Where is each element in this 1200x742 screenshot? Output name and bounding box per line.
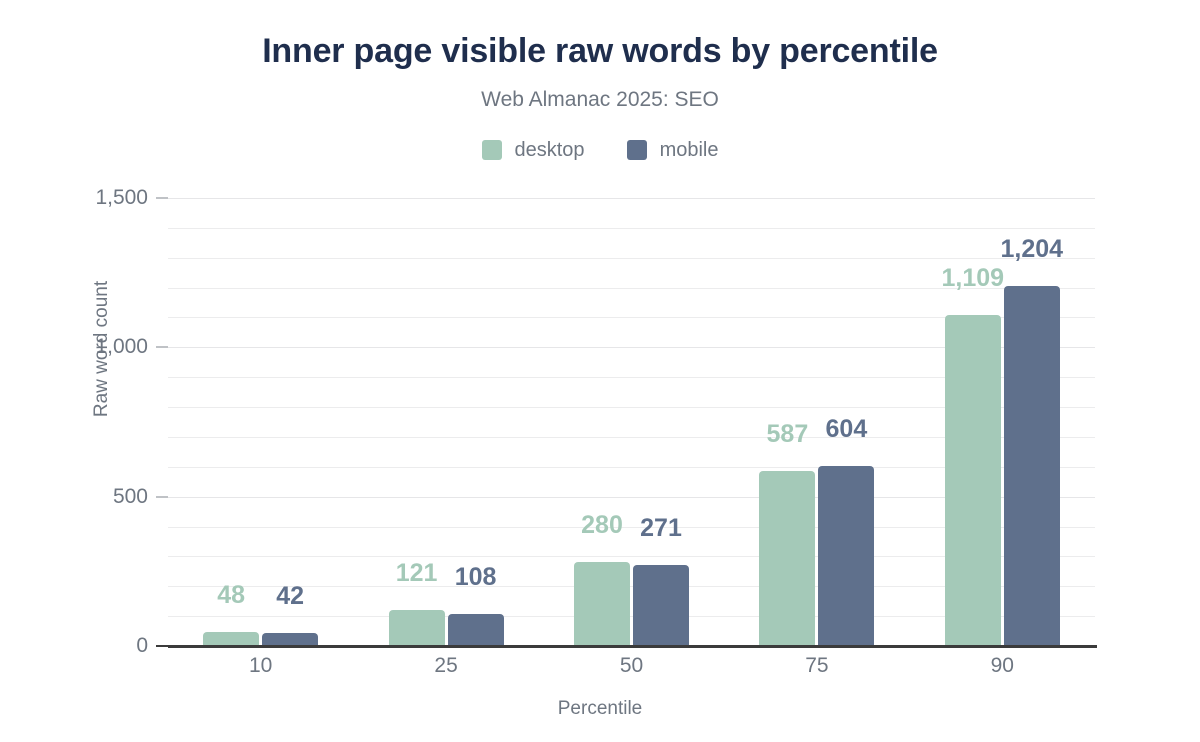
x-axis-line bbox=[168, 645, 1097, 648]
y-tick-mark bbox=[156, 346, 168, 348]
x-axis-title: Percentile bbox=[0, 698, 1200, 720]
y-tick-label: 0 bbox=[8, 634, 148, 658]
value-label-mobile-25: 108 bbox=[455, 565, 497, 590]
value-label-desktop-50: 280 bbox=[581, 513, 623, 538]
y-tick-mark bbox=[156, 645, 168, 647]
value-label-mobile-90: 1,204 bbox=[1001, 237, 1064, 262]
x-tick-label: 90 bbox=[922, 654, 1082, 678]
bar-mobile-50[interactable] bbox=[633, 565, 689, 646]
value-label-mobile-10: 42 bbox=[276, 584, 304, 609]
legend-label-mobile: mobile bbox=[660, 140, 719, 160]
y-tick-mark bbox=[156, 496, 168, 498]
value-label-desktop-90: 1,109 bbox=[942, 266, 1005, 291]
bar-desktop-90[interactable] bbox=[945, 315, 1001, 646]
legend-swatch-desktop-icon bbox=[482, 140, 502, 160]
value-label-desktop-10: 48 bbox=[217, 583, 245, 608]
bar-desktop-25[interactable] bbox=[389, 610, 445, 646]
bar-desktop-50[interactable] bbox=[574, 562, 630, 646]
x-tick-label: 25 bbox=[366, 654, 526, 678]
x-tick-label: 50 bbox=[552, 654, 712, 678]
value-label-desktop-25: 121 bbox=[396, 561, 438, 586]
legend-swatch-mobile-icon bbox=[627, 140, 647, 160]
bar-mobile-90[interactable] bbox=[1004, 286, 1060, 646]
bar-mobile-75[interactable] bbox=[818, 466, 874, 646]
value-label-mobile-50: 271 bbox=[640, 516, 682, 541]
legend-label-desktop: desktop bbox=[515, 140, 585, 160]
x-tick-label: 10 bbox=[181, 654, 341, 678]
legend-item-mobile[interactable]: mobile bbox=[627, 140, 719, 160]
y-tick-label: 1,500 bbox=[8, 186, 148, 210]
bar-desktop-75[interactable] bbox=[759, 471, 815, 646]
x-tick-label: 75 bbox=[737, 654, 897, 678]
bar-desktop-10[interactable] bbox=[203, 632, 259, 646]
chart-legend: desktop mobile bbox=[0, 140, 1200, 160]
y-tick-label: 500 bbox=[8, 485, 148, 509]
legend-item-desktop[interactable]: desktop bbox=[482, 140, 585, 160]
value-label-desktop-75: 587 bbox=[767, 422, 809, 447]
chart-title: Inner page visible raw words by percenti… bbox=[0, 32, 1200, 71]
value-label-mobile-75: 604 bbox=[826, 417, 868, 442]
bar-chart: Inner page visible raw words by percenti… bbox=[0, 0, 1200, 742]
y-tick-label: 1,000 bbox=[8, 335, 148, 359]
bar-mobile-25[interactable] bbox=[448, 614, 504, 646]
chart-subtitle: Web Almanac 2025: SEO bbox=[0, 88, 1200, 112]
y-tick-mark bbox=[156, 197, 168, 199]
